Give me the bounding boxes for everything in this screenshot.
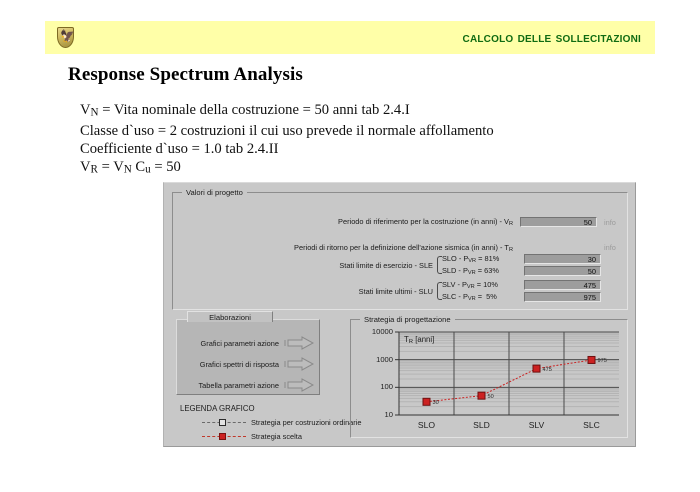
elab-item-grafici-spettri[interactable]: Grafici spettri di risposta [200, 357, 314, 371]
body-line-3: Coefficiente d`uso = 1.0 tab 2.4.II [80, 140, 494, 158]
x-category-slv: SLV [515, 420, 559, 430]
slide-body-text: VN = Vita nominale della costruzione = 5… [80, 101, 494, 179]
periodi-ritorno-row: Periodi di ritorno per la definizione de… [173, 243, 629, 253]
slu-caption: Stati limite ultimi - SLU [323, 287, 435, 296]
slc-value[interactable]: 975 [524, 292, 601, 302]
periodo-riferimento-label: Periodo di riferimento per la costruzion… [173, 217, 513, 227]
page-title: Response Spectrum Analysis [68, 64, 303, 86]
application-window: Valori di progetto Periodo di riferiment… [163, 182, 636, 447]
legend-label-scelta: Strategia scelta [251, 432, 302, 441]
point-label-slc: 975 [598, 358, 607, 364]
info-link-vr[interactable]: info [604, 218, 616, 227]
elaborazioni-tab[interactable]: Elaborazioni [187, 311, 273, 322]
strategy-chart: 10000 1000 100 10 TR [anni] SLO SLD SLV … [351, 320, 629, 439]
sle-group: Stati limite di esercizio - SLE SLO - PV… [323, 254, 623, 276]
strategia-progettazione-group: Strategia di progettazione 10000 1000 10… [350, 319, 628, 438]
header-banner: 🦅 Calcolo delle sollecitazioni [45, 21, 655, 54]
body-line-1: VN = Vita nominale della costruzione = 5… [80, 101, 494, 122]
periodo-riferimento-row: Periodo di riferimento per la costruzion… [173, 217, 629, 227]
periodo-riferimento-value[interactable]: 50 [520, 217, 597, 227]
limit-states-cluster: Stati limite di esercizio - SLE SLO - PV… [323, 254, 623, 304]
slu-group: Stati limite ultimi - SLU SLV - PVR = 10… [323, 280, 623, 302]
body-line-4: VR = VN Cu = 50 [80, 158, 494, 179]
elab-item-tabella-parametri[interactable]: Tabella parametri azione [198, 378, 314, 392]
point-label-slo: 30 [433, 400, 439, 406]
limit-state-row-sld: SLD - PVR = 63% 50 [442, 266, 601, 276]
shield-crest-icon: 🦅 [57, 27, 74, 48]
slc-label: SLC - PVR = 5% [442, 292, 524, 302]
y-tick-1000: 1000 [353, 355, 393, 364]
legend-marker-filled-square-icon [202, 432, 246, 441]
elab-label-grafici-spettri: Grafici spettri di risposta [200, 360, 279, 369]
legend-label-ordinarie: Strategia per costruzioni ordinarie [251, 418, 362, 427]
slo-label: SLO - PVR = 81% [442, 254, 524, 264]
x-category-slo: SLO [405, 420, 449, 430]
limit-state-row-slo: SLO - PVR = 81% 30 [442, 254, 601, 264]
valori-group-legend: Valori di progetto [182, 188, 247, 197]
y-axis-title: TR [anni] [404, 335, 434, 345]
sle-caption: Stati limite di esercizio - SLE [323, 261, 435, 270]
limit-state-row-slv: SLV - PVR = 10% 475 [442, 280, 601, 290]
sld-value[interactable]: 50 [524, 266, 601, 276]
slu-brace-icon [435, 280, 442, 302]
sld-label: SLD - PVR = 63% [442, 266, 524, 276]
elaborazioni-panel: Elaborazioni Grafici parametri azione Gr… [176, 319, 320, 395]
x-category-sld: SLD [460, 420, 504, 430]
sle-brace-icon [435, 254, 442, 276]
slv-value[interactable]: 475 [524, 280, 601, 290]
point-label-sld: 50 [488, 394, 494, 400]
arrow-right-button-grafici-parametri[interactable] [284, 336, 314, 350]
info-link-tr[interactable]: info [604, 243, 616, 252]
slide-canvas: 🦅 Calcolo delle sollecitazioni Response … [0, 0, 700, 492]
arrow-right-button-tabella-parametri[interactable] [284, 378, 314, 392]
banner-title: Calcolo delle sollecitazioni [463, 30, 641, 46]
x-category-slc: SLC [570, 420, 614, 430]
elab-item-grafici-parametri[interactable]: Grafici parametri azione [201, 336, 314, 350]
arrow-right-button-grafici-spettri[interactable] [284, 357, 314, 371]
periodi-ritorno-label: Periodi di ritorno per la definizione de… [173, 243, 513, 253]
elab-label-grafici-parametri: Grafici parametri azione [201, 339, 279, 348]
y-tick-10000: 10000 [353, 327, 393, 336]
elab-label-tabella-parametri: Tabella parametri azione [198, 381, 279, 390]
body-line-2: Classe d`uso = 2 costruzioni il cui uso … [80, 122, 494, 140]
y-tick-100: 100 [353, 382, 393, 391]
point-label-slv: 475 [543, 367, 552, 373]
valori-di-progetto-group: Valori di progetto Periodo di riferiment… [172, 192, 628, 310]
legend-marker-open-square-icon [202, 418, 246, 427]
y-tick-10: 10 [353, 410, 393, 419]
limit-state-row-slc: SLC - PVR = 5% 975 [442, 292, 601, 302]
slv-label: SLV - PVR = 10% [442, 280, 524, 290]
slo-value[interactable]: 30 [524, 254, 601, 264]
